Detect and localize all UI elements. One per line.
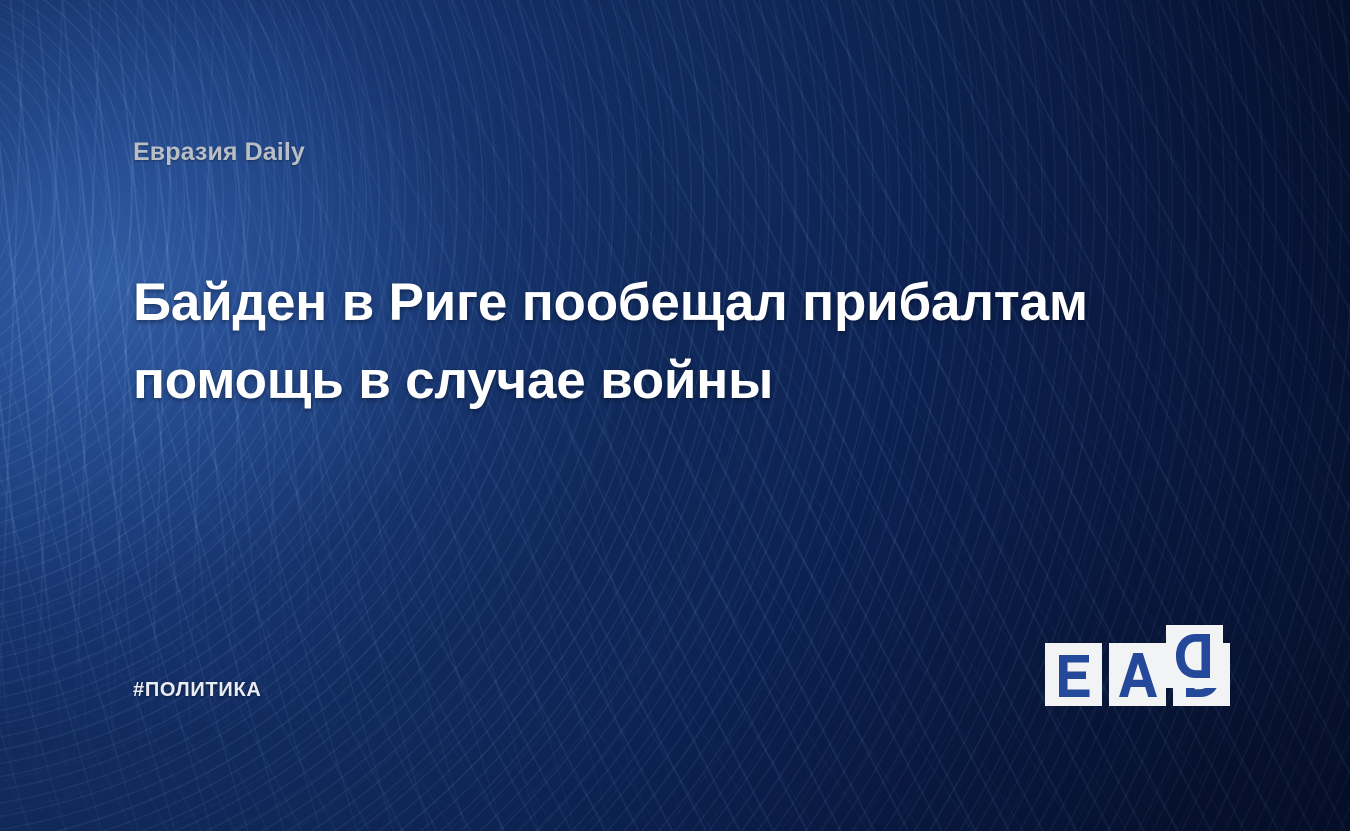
logo-tile-a — [1109, 643, 1166, 706]
news-card: Евразия Daily Байден в Риге пообещал при… — [0, 0, 1350, 831]
page-title: Байден в Риге пообещал прибалтам помощь … — [133, 264, 1143, 420]
logo-tile-d-rotated — [1166, 625, 1223, 688]
eadaily-logo[interactable] — [1045, 625, 1225, 707]
brand-name: Евразия Daily — [133, 138, 305, 167]
category-tag[interactable]: #ПОЛИТИКА — [133, 679, 262, 702]
logo-tile-e — [1045, 643, 1102, 706]
card-content: Евразия Daily Байден в Риге пообещал при… — [0, 0, 1350, 831]
